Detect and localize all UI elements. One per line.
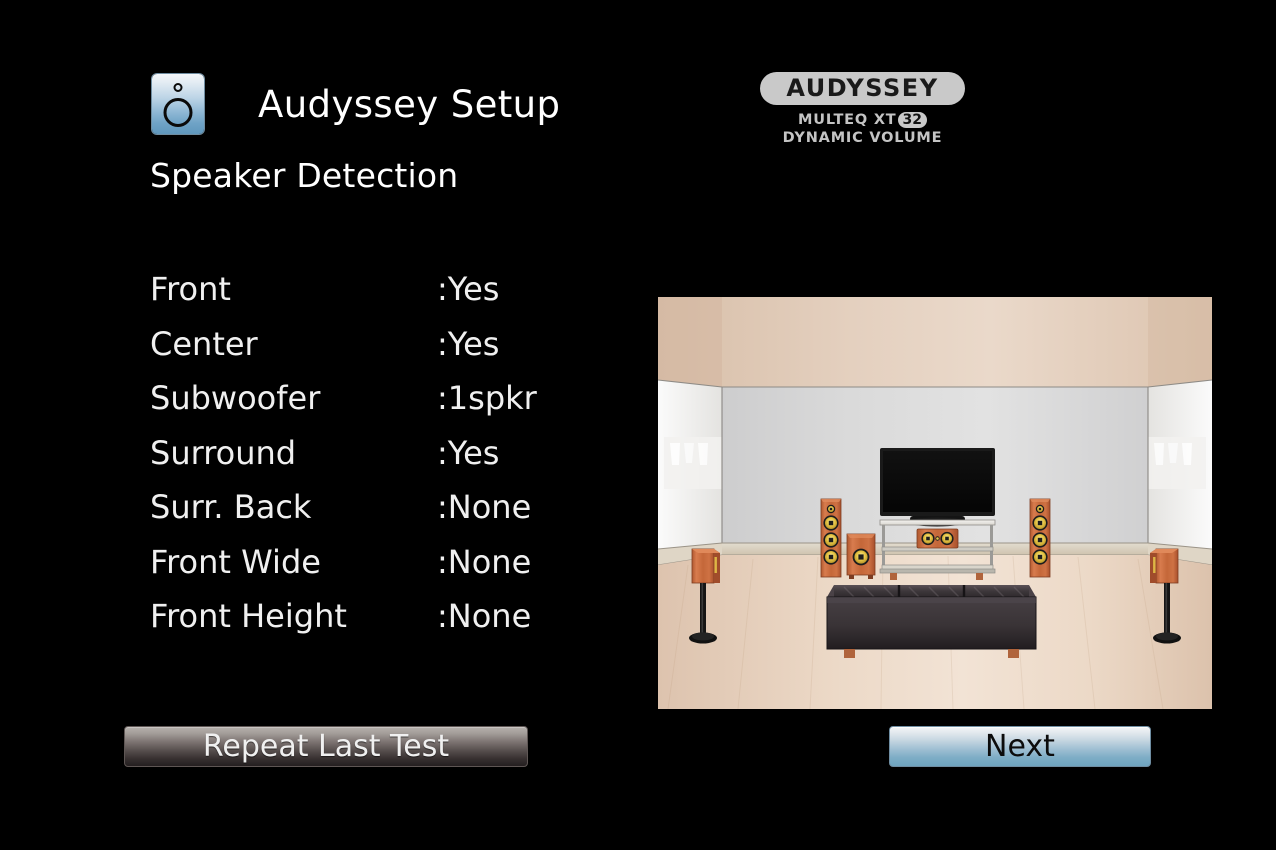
- detection-value: :1spkr: [437, 379, 590, 417]
- speaker-icon-tweeter: [174, 83, 183, 92]
- detection-row-surround: Surround :Yes: [150, 426, 590, 481]
- front-left-tower-speaker: [821, 499, 841, 577]
- center-speaker: [917, 529, 958, 548]
- room-ceiling: [658, 297, 1212, 387]
- detection-value: :Yes: [437, 270, 590, 308]
- audyssey-multeq-text: MULTEQ XT: [798, 112, 896, 128]
- detection-row-front-wide: Front Wide :None: [150, 535, 590, 590]
- detection-row-front-height: Front Height :None: [150, 589, 590, 644]
- detection-row-center: Center :Yes: [150, 317, 590, 372]
- front-right-tower-speaker: [1030, 499, 1050, 577]
- sofa: [827, 585, 1036, 658]
- audyssey-multeq-line: MULTEQ XT 32: [760, 112, 965, 128]
- page-subtitle: Speaker Detection: [150, 156, 458, 195]
- detection-label: Front Wide: [150, 543, 437, 581]
- audyssey-xt32-badge: 32: [898, 112, 927, 128]
- subwoofer: [847, 534, 875, 579]
- detection-value: :None: [437, 597, 590, 635]
- screen-header: Audyssey Setup: [152, 74, 560, 134]
- audyssey-logo: AUDYSSEY MULTEQ XT 32 DYNAMIC VOLUME: [760, 72, 965, 146]
- speaker-icon: [152, 74, 204, 134]
- speaker-detection-list: Front :Yes Center :Yes Subwoofer :1spkr …: [150, 262, 590, 644]
- page-title: Audyssey Setup: [258, 83, 560, 126]
- detection-label: Front Height: [150, 597, 437, 635]
- detection-value: :None: [437, 543, 590, 581]
- detection-label: Center: [150, 325, 437, 363]
- next-button[interactable]: Next: [889, 726, 1151, 767]
- audyssey-brand-pill: AUDYSSEY: [760, 72, 965, 105]
- room-diagram: [658, 297, 1212, 709]
- audyssey-dynamic-volume-line: DYNAMIC VOLUME: [760, 130, 965, 146]
- repeat-last-test-button[interactable]: Repeat Last Test: [124, 726, 528, 767]
- detection-value: :None: [437, 488, 590, 526]
- detection-value: :Yes: [437, 325, 590, 363]
- detection-label: Surround: [150, 434, 437, 472]
- detection-label: Surr. Back: [150, 488, 437, 526]
- speaker-icon-woofer: [164, 98, 193, 127]
- detection-label: Front: [150, 270, 437, 308]
- television: [880, 448, 995, 527]
- detection-label: Subwoofer: [150, 379, 437, 417]
- detection-row-surr-back: Surr. Back :None: [150, 480, 590, 535]
- detection-value: :Yes: [437, 434, 590, 472]
- detection-row-subwoofer: Subwoofer :1spkr: [150, 371, 590, 426]
- detection-row-front: Front :Yes: [150, 262, 590, 317]
